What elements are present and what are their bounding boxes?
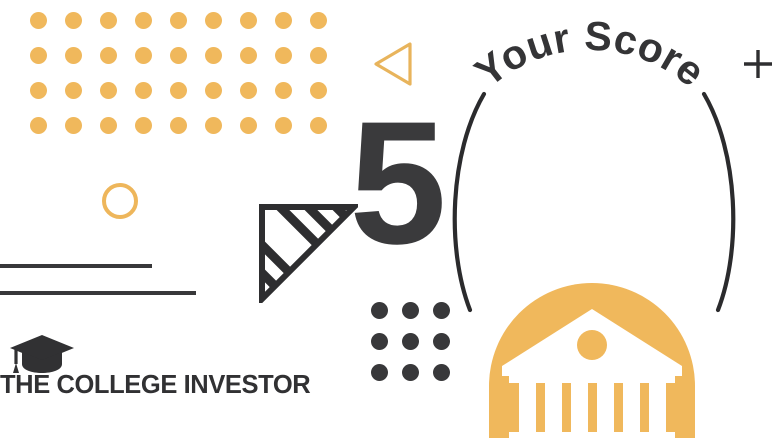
triangle-left-outline-icon [373, 40, 413, 88]
grid-dot [30, 12, 47, 29]
grid-dot [275, 47, 292, 64]
grid-dot [205, 12, 222, 29]
grid-dot [100, 47, 117, 64]
grid-dot [433, 364, 450, 381]
grid-dot [205, 47, 222, 64]
horizontal-rule-icon [0, 291, 196, 295]
brand-wordmark: THE COLLEGE INVESTOR [0, 373, 310, 399]
grid-dot [433, 333, 450, 350]
score-label-text: Your Score [466, 12, 714, 95]
grid-dot [433, 302, 450, 319]
grid-dot [170, 47, 187, 64]
grid-dot [170, 12, 187, 29]
grid-dot [371, 364, 388, 381]
graduation-cap-icon [8, 333, 76, 375]
grid-dot [65, 12, 82, 29]
plus-icon [742, 48, 774, 80]
grid-dot [402, 333, 419, 350]
grid-dot [310, 47, 327, 64]
grid-dot [30, 47, 47, 64]
score-value-text: 5 [349, 86, 444, 281]
dot-grid-icon [371, 302, 464, 395]
grid-dot [135, 12, 152, 29]
grid-dot [402, 302, 419, 319]
grid-dot [240, 47, 257, 64]
grid-dot [240, 12, 257, 29]
grid-dot [100, 12, 117, 29]
grid-dot [135, 47, 152, 64]
score-value: 5 [0, 96, 780, 271]
svg-text:Your Score: Your Score [466, 12, 714, 95]
grid-dot [310, 12, 327, 29]
brand-logo [8, 333, 76, 375]
grid-dot [275, 12, 292, 29]
university-building-badge [489, 283, 695, 438]
grid-dot [371, 333, 388, 350]
pediment-circle [577, 330, 607, 360]
score-graphic-canvas: Your Score 5 [0, 0, 780, 438]
grid-dot [65, 47, 82, 64]
grid-dot [402, 364, 419, 381]
grid-dot [371, 302, 388, 319]
